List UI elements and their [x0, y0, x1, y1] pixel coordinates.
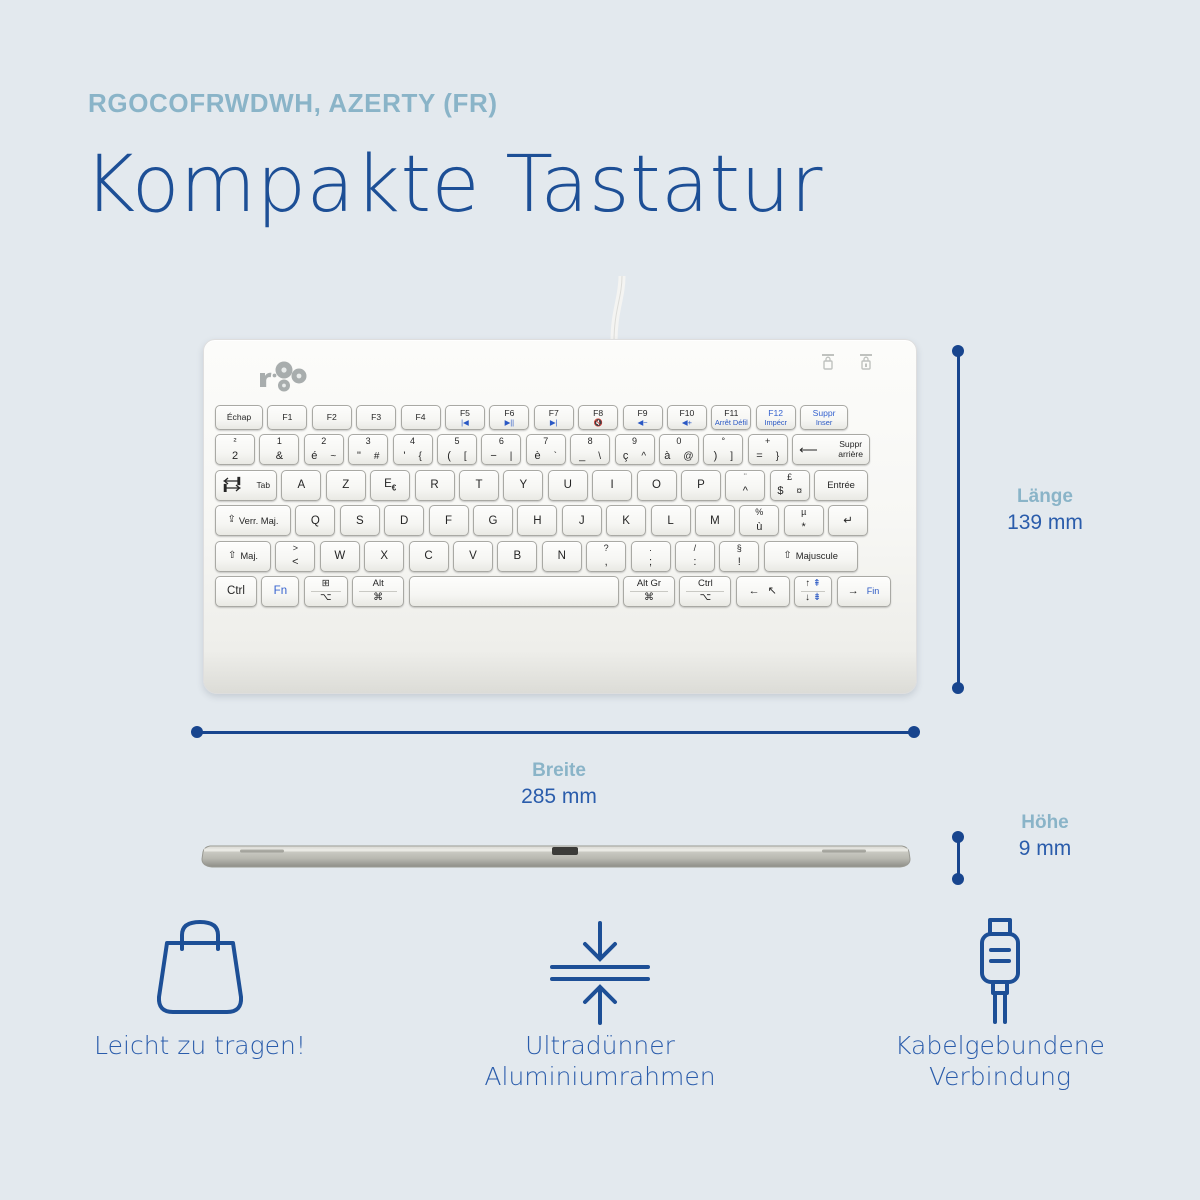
key-label: SupprInser	[813, 409, 836, 427]
key-f[interactable]: F	[429, 505, 469, 536]
indicator-leds	[820, 353, 874, 375]
key-legend-bottom: ^	[726, 486, 764, 498]
key-legend-bottom: −|	[482, 451, 520, 463]
key-label: F5|◀	[460, 409, 470, 427]
key-o[interactable]: O	[637, 470, 677, 501]
key-f5[interactable]: F5|◀	[445, 405, 485, 430]
key-label: P	[697, 479, 705, 491]
key-label: G	[488, 515, 497, 527]
key-label: Y	[520, 479, 528, 491]
key-legend-bottom: )]	[704, 451, 742, 463]
key--[interactable]: ←↖	[736, 576, 790, 607]
tab-arrows-icon	[222, 476, 242, 495]
height-value: 9 mm	[975, 837, 1115, 861]
key-suppr[interactable]: ⟵Supprarrière	[792, 434, 870, 465]
key-label: Échap	[227, 413, 251, 422]
key--[interactable]: ↑ ⇞↓ ⇟	[794, 576, 832, 607]
key-alt[interactable]: Alt⌘	[352, 576, 404, 607]
key-b[interactable]: B	[497, 541, 537, 572]
keyboard-bezel	[204, 340, 916, 405]
key-legend-top: 0	[660, 437, 698, 446]
key-legend-bottom: ù	[740, 522, 778, 534]
key--[interactable]: +=}	[748, 434, 788, 465]
key-ctrl[interactable]: Ctrl	[215, 576, 257, 607]
key-i[interactable]: I	[592, 470, 632, 501]
key-f3[interactable]: F3	[356, 405, 396, 430]
key-label: Tab	[256, 481, 270, 490]
key-legend-altgr: |	[510, 451, 513, 462]
keyboard-cable	[600, 276, 640, 346]
key-legend-fn: ◀−	[638, 419, 648, 427]
key-legend-bottom: <	[276, 557, 314, 569]
height-label: Höhe 9 mm	[975, 812, 1115, 861]
key-l[interactable]: L	[651, 505, 691, 536]
key-legend-altgr: {	[418, 451, 421, 462]
key-legend-bottom: 2	[216, 451, 254, 463]
key-g[interactable]: G	[473, 505, 513, 536]
key-label: ←	[749, 586, 760, 598]
key-legend-top: %	[740, 508, 778, 517]
key-label: F3	[371, 413, 381, 422]
height-name: Höhe	[975, 812, 1115, 834]
key-legend-bottom: '{	[394, 451, 432, 463]
key-s[interactable]: S	[340, 505, 380, 536]
key-f10[interactable]: F10◀+	[667, 405, 707, 430]
key-row: TabAZE€RTYUIOP¨^£$¤Entrée	[215, 470, 905, 501]
key-legend-altgr: ]	[730, 451, 733, 462]
key-legend-bottom: é~	[305, 451, 343, 463]
key-legend-bottom: =}	[749, 451, 787, 463]
key-fn[interactable]: Fn	[261, 576, 299, 607]
key-h[interactable]: H	[517, 505, 557, 536]
key-legend-bottom: &	[260, 451, 298, 463]
key--[interactable]: →Fin	[837, 576, 891, 607]
key-label: F6▶||	[504, 409, 514, 427]
key-label: M	[710, 515, 720, 527]
key-label: F7▶|	[549, 409, 559, 427]
key-label: F12Impécr	[764, 409, 787, 427]
backspace-arrow-icon: ⟵	[799, 443, 818, 457]
key-label: Ctrl	[227, 585, 245, 597]
key-legend-secondary: ↖	[768, 586, 777, 598]
key-legend-top: .	[632, 544, 670, 553]
key--[interactable]: ¨^	[725, 470, 765, 501]
width-value: 285 mm	[489, 785, 629, 809]
key-m[interactable]: M	[695, 505, 735, 536]
key-legend-top: ↑ ⇞	[795, 579, 831, 589]
width-name: Breite	[489, 760, 629, 782]
key--[interactable]: 6−|	[481, 434, 521, 465]
key--[interactable]: 3"#	[348, 434, 388, 465]
key-f4[interactable]: F4	[401, 405, 441, 430]
key-label: F9◀−	[638, 409, 648, 427]
feature-wired: KabelgebundeneVerbindung	[800, 915, 1200, 1092]
key--[interactable]: 4'{	[393, 434, 433, 465]
key-label: ↵	[843, 515, 853, 527]
key-legend-bottom: ⌘	[353, 593, 403, 604]
shift-arrow-icon: ⇧	[228, 551, 236, 562]
key-e[interactable]: E€	[370, 470, 410, 501]
width-line	[197, 731, 914, 734]
key-legend-bottom: $¤	[771, 486, 809, 498]
key-label: Verr. Maj.	[239, 516, 279, 526]
key-label: Q	[311, 515, 320, 527]
key-legend-bottom: :	[676, 557, 714, 569]
key-legend-bottom: _\	[571, 451, 609, 463]
width-dot-right	[908, 726, 920, 738]
key-legend-euro: €	[392, 483, 396, 492]
feature-row: Leicht zu tragen! UltradünnerAluminiumra…	[0, 915, 1200, 1092]
key-label: I	[611, 479, 614, 491]
key-legend-bottom: ⌥	[305, 593, 347, 604]
key-label: Majuscule	[796, 551, 838, 561]
key-label: S	[356, 515, 364, 527]
key-tab[interactable]: Tab	[215, 470, 277, 501]
key-legend-top: +	[749, 437, 787, 446]
key--[interactable]: £$¤	[770, 470, 810, 501]
key-label: F	[445, 515, 452, 527]
feature-portable-label: Leicht zu tragen!	[0, 1030, 400, 1061]
key-legend-top: §	[720, 544, 758, 553]
key--[interactable]: ⊞⌥	[304, 576, 348, 607]
key-legend-altgr: [	[464, 451, 467, 462]
key--[interactable]: .;	[631, 541, 671, 572]
key--[interactable]: ↵	[828, 505, 868, 536]
key-label: D	[400, 515, 408, 527]
key-suppr[interactable]: SupprInser	[800, 405, 848, 430]
key-row: CtrlFn⊞⌥Alt⌘Alt Gr⌘Ctrl⌥←↖↑ ⇞↓ ⇟→Fin	[215, 576, 905, 607]
keyboard-top-view: ÉchapF1F2F3F4F5|◀F6▶||F7▶|F8🔇F9◀−F10◀+F1…	[203, 339, 917, 694]
key-legend-altgr: ¤	[796, 486, 802, 497]
key--[interactable]: 8_\	[570, 434, 610, 465]
feature-portable: Leicht zu tragen!	[0, 915, 400, 1092]
key-f2[interactable]: F2	[312, 405, 352, 430]
key-à[interactable]: 0à@	[659, 434, 699, 465]
key-legend-bottom: ⌘	[624, 593, 674, 604]
shift-arrow-icon: ⇧	[783, 551, 791, 562]
key-n[interactable]: N	[542, 541, 582, 572]
key-legend-bottom: ↓ ⇟	[795, 593, 831, 604]
key-legend-top: 6	[482, 437, 520, 446]
key-label: X	[380, 550, 388, 562]
key-legend-bottom: *	[785, 522, 823, 534]
key-w[interactable]: W	[320, 541, 360, 572]
key-legend-top: >	[276, 544, 314, 553]
key-legend-top: 1	[260, 437, 298, 446]
key-legend-bottom: ([	[438, 451, 476, 463]
key-q[interactable]: Q	[295, 505, 335, 536]
key-legend-bottom: è`	[527, 451, 565, 463]
key-alt-gr[interactable]: Alt Gr⌘	[623, 576, 675, 607]
key-legend-bottom: à@	[660, 451, 698, 463]
key-legend-altgr: \	[598, 451, 601, 462]
key-v[interactable]: V	[453, 541, 493, 572]
key-label: W	[334, 550, 345, 562]
key-label: A	[298, 479, 306, 491]
key-x[interactable]: X	[364, 541, 404, 572]
key-legend-top: 4	[394, 437, 432, 446]
length-label: Länge 139 mm	[975, 486, 1115, 535]
key-legend-altgr: ~	[330, 451, 336, 462]
key-label: F4	[416, 413, 426, 422]
key--[interactable]: §!	[719, 541, 759, 572]
key-verr-maj-[interactable]: ⇪Verr. Maj.	[215, 505, 291, 536]
key-y[interactable]: Y	[503, 470, 543, 501]
key-legend-bottom: "#	[349, 451, 387, 463]
key-è[interactable]: 7è`	[526, 434, 566, 465]
key-label: Entrée	[827, 480, 855, 490]
key-legend-top: µ	[785, 508, 823, 517]
key-legend-fn: 🔇	[593, 419, 603, 427]
key-legend-bottom: ç^	[616, 451, 654, 463]
key-p[interactable]: P	[681, 470, 721, 501]
key-f12[interactable]: F12Impécr	[756, 405, 796, 430]
key-legend-bottom: !	[720, 557, 758, 569]
page-title: Kompakte Tastatur	[84, 140, 823, 230]
key-label: Fn	[274, 585, 287, 597]
key-legend-top: 8	[571, 437, 609, 446]
key-a[interactable]: A	[281, 470, 321, 501]
key-legend-bottom: ;	[632, 557, 670, 569]
key-f8[interactable]: F8🔇	[578, 405, 618, 430]
rgo-logo-icon	[258, 360, 320, 394]
key-label: O	[652, 479, 661, 491]
key-label: F10◀+	[680, 409, 695, 427]
key-legend-top: Ctrl	[680, 579, 730, 589]
key-row: ⇧Maj.><WXCVBN?,.;/:§!⇧Majuscule	[215, 541, 905, 572]
caps-lock-led-icon	[820, 353, 836, 375]
key-legend-top: 9	[616, 437, 654, 446]
key-legend-top: 2	[305, 437, 343, 446]
key-legend-top: ²	[216, 437, 254, 446]
key-legend-fn: Inser	[813, 419, 836, 427]
usb-cable-plug-icon	[800, 915, 1200, 1030]
key-entrée[interactable]: Entrée	[814, 470, 868, 501]
key-legend-fn: ◀+	[680, 419, 695, 427]
key-maj-[interactable]: ⇧Maj.	[215, 541, 271, 572]
key-row: ÉchapF1F2F3F4F5|◀F6▶||F7▶|F8🔇F9◀−F10◀+F1…	[215, 405, 905, 430]
num-lock-led-icon	[858, 353, 874, 375]
key-2[interactable]: ²2	[215, 434, 255, 465]
key-échap[interactable]: Échap	[215, 405, 263, 430]
key-legend-altgr: ^	[641, 451, 646, 462]
key-legend-top: °	[704, 437, 742, 446]
key-legend-top: 3	[349, 437, 387, 446]
key-legend-top: Alt Gr	[624, 579, 674, 589]
key--[interactable]: /:	[675, 541, 715, 572]
key-label: C	[424, 550, 432, 562]
length-line	[957, 351, 960, 688]
key-ù[interactable]: %ù	[739, 505, 779, 536]
key-label: T	[475, 479, 482, 491]
key-t[interactable]: T	[459, 470, 499, 501]
key-label: L	[667, 515, 673, 527]
key-label: H	[533, 515, 541, 527]
key-ctrl[interactable]: Ctrl⌥	[679, 576, 731, 607]
key-legend-top: ¨	[726, 473, 764, 482]
caps-lock-icon: ⇪	[228, 515, 236, 526]
key-j[interactable]: J	[562, 505, 602, 536]
key-legend-fn: |◀	[460, 419, 470, 427]
key-row: ²21&2é~3"#4'{5([6−|7è`8_\9ç^0à@°)]+=}⟵Su…	[215, 434, 905, 465]
key--[interactable]: µ*	[784, 505, 824, 536]
key-legend-altgr: `	[554, 451, 557, 462]
key-legend-fn: Arrêt Défil	[715, 419, 748, 427]
key-label: Z	[342, 479, 349, 491]
keyboard-side-view	[200, 840, 912, 876]
key-label: J	[579, 515, 585, 527]
key-label: N	[558, 550, 566, 562]
key-row: ⇪Verr. Maj.QSDFGHJKLM%ùµ*↵	[215, 505, 905, 536]
key-é[interactable]: 2é~	[304, 434, 344, 465]
key-legend-fn: ▶|	[549, 419, 559, 427]
length-dot-bottom	[952, 682, 964, 694]
key-z[interactable]: Z	[326, 470, 366, 501]
key-r[interactable]: R	[415, 470, 455, 501]
key-legend-top: /	[676, 544, 714, 553]
key-label: F1	[282, 413, 292, 422]
length-value: 139 mm	[975, 511, 1115, 535]
key-legend-bottom: ⌥	[680, 593, 730, 604]
length-name: Länge	[975, 486, 1115, 508]
key-label: F2	[327, 413, 337, 422]
key-d[interactable]: D	[384, 505, 424, 536]
key--[interactable]: °)]	[703, 434, 743, 465]
key-f1[interactable]: F1	[267, 405, 307, 430]
key-label: F8🔇	[593, 409, 603, 427]
key-legend-fn: Impécr	[764, 419, 787, 427]
key-legend-secondary: Fin	[867, 587, 880, 596]
product-subtitle: RGOCOFRWDWH, AZERTY (FR)	[88, 88, 498, 119]
key-label: →	[848, 586, 859, 598]
key-label: V	[469, 550, 477, 562]
key--[interactable]: ?,	[586, 541, 626, 572]
key-label: E€	[384, 478, 396, 493]
key-f6[interactable]: F6▶||	[489, 405, 529, 430]
key-legend-top: Alt	[353, 579, 403, 589]
height-dot-bottom	[952, 873, 964, 885]
key-matrix: ÉchapF1F2F3F4F5|◀F6▶||F7▶|F8🔇F9◀−F10◀+F1…	[204, 405, 916, 620]
key-legend-bottom: ,	[587, 557, 625, 569]
feature-thin-frame: UltradünnerAluminiumrahmen	[400, 915, 800, 1092]
key-legend-top: ⊞	[305, 579, 347, 589]
key-c[interactable]: C	[409, 541, 449, 572]
thin-frame-icon	[400, 915, 800, 1030]
key-f7[interactable]: F7▶|	[534, 405, 574, 430]
key-legend-fn: ▶||	[504, 419, 514, 427]
key-legend-altgr: #	[374, 451, 380, 462]
key-legend-altgr: }	[776, 451, 779, 462]
key-ç[interactable]: 9ç^	[615, 434, 655, 465]
key-f11[interactable]: F11Arrêt Défil	[711, 405, 751, 430]
feature-thin-frame-label: UltradünnerAluminiumrahmen	[400, 1030, 800, 1092]
shopping-bag-icon	[0, 915, 400, 1030]
key-legend-top: 7	[527, 437, 565, 446]
key-label: B	[514, 550, 522, 562]
key-u[interactable]: U	[548, 470, 588, 501]
key-label: Maj.	[240, 551, 258, 561]
key-legend-top: £	[771, 473, 809, 482]
key-f9[interactable]: F9◀−	[623, 405, 663, 430]
key-legend-top: ?	[587, 544, 625, 553]
key-label: Supprarrière	[838, 440, 863, 459]
key-k[interactable]: K	[606, 505, 646, 536]
key-key[interactable]	[409, 576, 619, 607]
key--[interactable]: 5([	[437, 434, 477, 465]
key-label: F11Arrêt Défil	[715, 409, 748, 427]
key-legend-altgr: @	[683, 451, 693, 462]
key-label: K	[622, 515, 630, 527]
key-label: R	[430, 479, 438, 491]
key-legend-top: 5	[438, 437, 476, 446]
key--[interactable]: ><	[275, 541, 315, 572]
key--[interactable]: 1&	[259, 434, 299, 465]
key-majuscule[interactable]: ⇧Majuscule	[764, 541, 858, 572]
key-label: U	[564, 479, 572, 491]
feature-wired-label: KabelgebundeneVerbindung	[800, 1030, 1200, 1092]
width-label: Breite 285 mm	[489, 760, 629, 809]
